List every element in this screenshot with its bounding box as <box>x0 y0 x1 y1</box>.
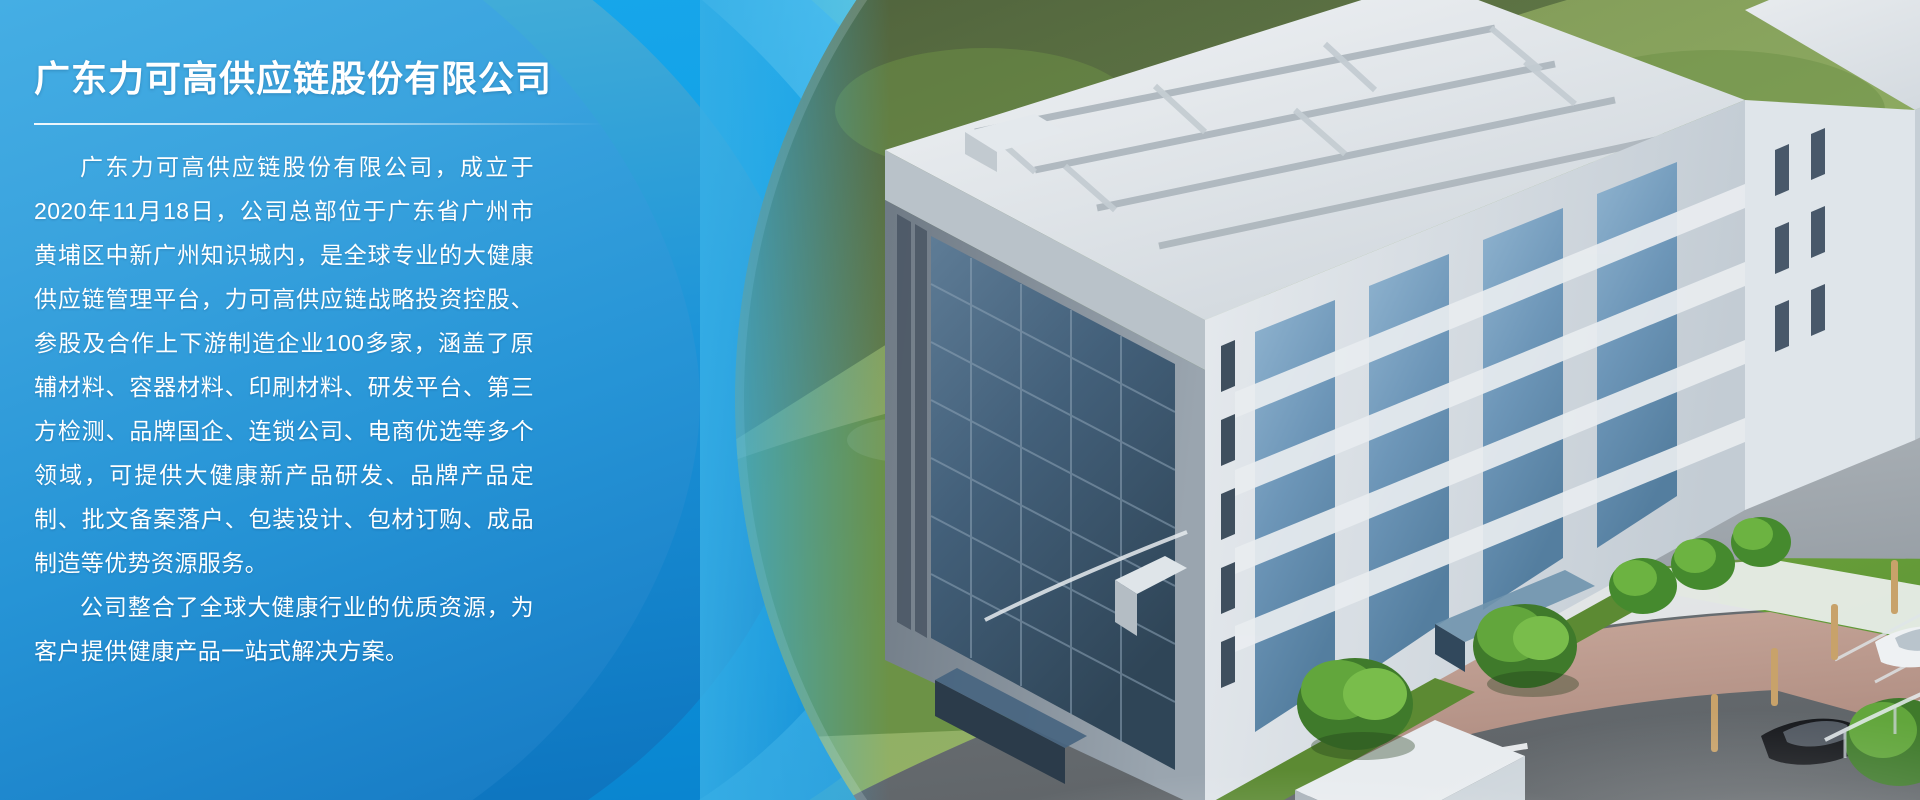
campus-rendering-photo <box>735 0 1920 800</box>
title-divider <box>34 123 604 125</box>
page-title: 广东力可高供应链股份有限公司 <box>34 56 620 101</box>
banner-stage: 广东力可高供应链股份有限公司 广东力可高供应链股份有限公司，成立于2020年11… <box>0 0 1920 800</box>
description-paragraph-2: 公司整合了全球大健康行业的优质资源，为客户提供健康产品一站式解决方案。 <box>34 585 534 673</box>
text-content-column: 广东力可高供应链股份有限公司 广东力可高供应链股份有限公司，成立于2020年11… <box>0 0 620 800</box>
description-paragraph-1: 广东力可高供应链股份有限公司，成立于2020年11月18日，公司总部位于广东省广… <box>34 145 534 585</box>
company-description: 广东力可高供应链股份有限公司，成立于2020年11月18日，公司总部位于广东省广… <box>34 145 534 673</box>
